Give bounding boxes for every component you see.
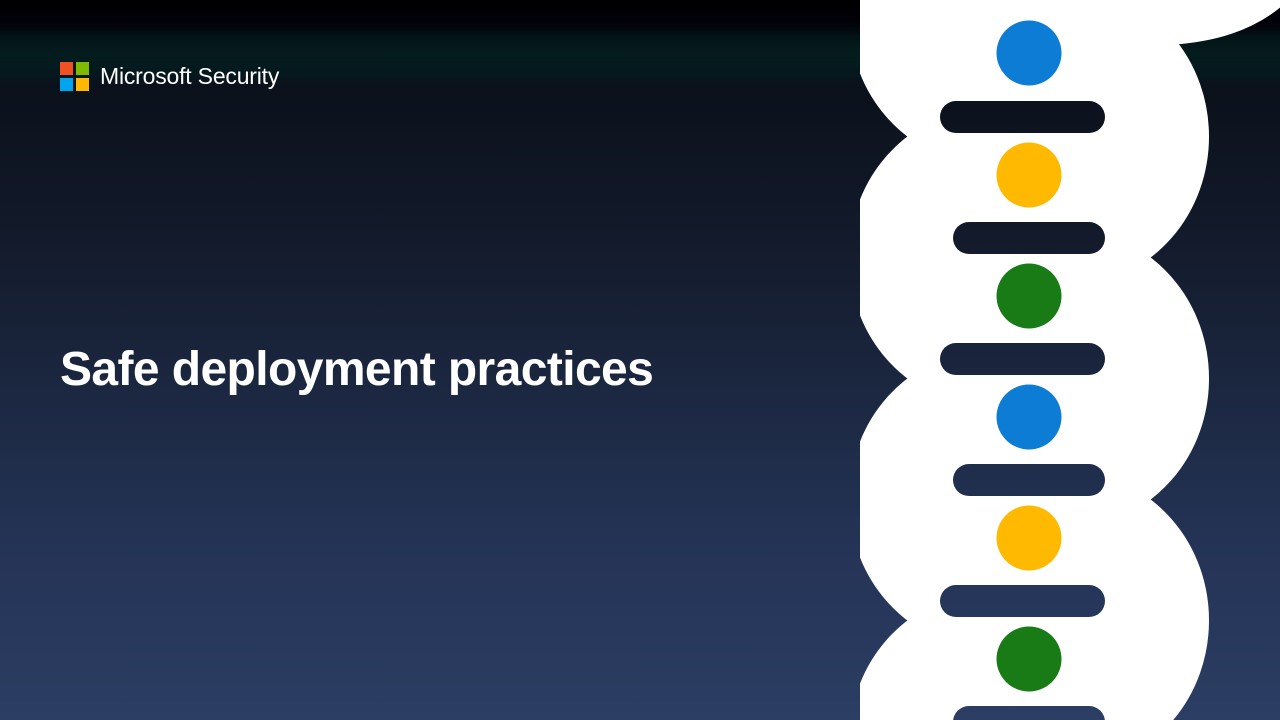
square-yellow-icon [76,78,89,91]
brand-lockup: Microsoft Security [60,62,279,91]
page-title: Safe deployment practices [60,342,820,399]
microsoft-four-square-icon [60,62,89,91]
square-green-icon [76,62,89,75]
slide-canvas: Microsoft Security Safe deployment pract… [0,0,1280,720]
square-red-icon [60,62,73,75]
brand-name: Microsoft Security [100,65,279,88]
square-blue-icon [60,78,73,91]
